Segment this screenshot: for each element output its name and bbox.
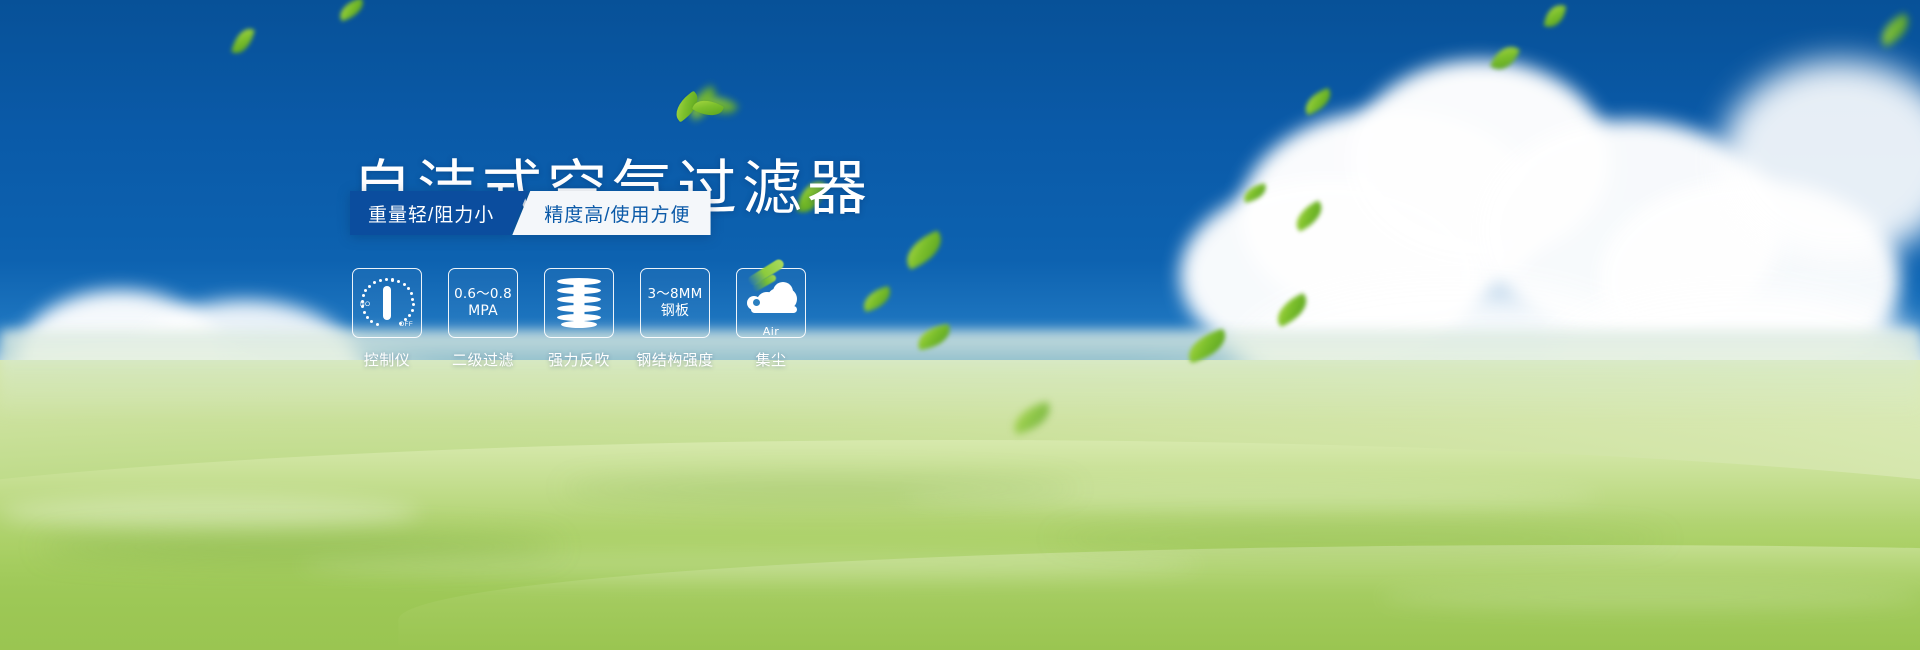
air-cloud-icon: Air <box>743 280 799 326</box>
title-leaf-decoration <box>672 88 726 122</box>
feature-item-controller[interactable]: NO OFF 控制仪 <box>352 268 422 370</box>
tagline-secondary: 精度高/使用方便 <box>512 191 710 235</box>
feature-label: 强力反吹 <box>548 349 610 370</box>
feature-item-pressure[interactable]: 0.6～0.8 MPA 二级过滤 <box>448 268 518 370</box>
tagline-primary: 重量轻/阻力小 <box>350 191 528 235</box>
banner-content: 自洁式空气过滤器 重量轻/阻力小 精度高/使用方便 <box>0 0 1920 650</box>
feature-value-line2: 钢板 <box>661 303 689 320</box>
feature-value-line1: 0.6～0.8 <box>454 286 512 302</box>
feature-list: NO OFF 控制仪 0.6～0.8 MPA 二级过滤 <box>352 268 806 370</box>
hero-banner: 自洁式空气过滤器 重量轻/阻力小 精度高/使用方便 <box>0 0 1920 650</box>
tagline-bar: 重量轻/阻力小 精度高/使用方便 <box>350 191 711 235</box>
feature-item-dust[interactable]: Air 集尘 <box>736 268 806 370</box>
feature-value-line1: 3～8MM <box>648 286 703 302</box>
feature-label: 集尘 <box>755 349 786 370</box>
feature-label: 钢结构强度 <box>636 349 714 370</box>
feature-icon-box: NO OFF <box>352 268 422 338</box>
feature-icon-box: Air <box>736 268 806 338</box>
feature-icon-box: 3～8MM 钢板 <box>640 268 710 338</box>
feature-icon-box: 0.6～0.8 MPA <box>448 268 518 338</box>
gauge-label-no: NO <box>360 301 370 308</box>
gauge-label-off: OFF <box>399 321 413 328</box>
feature-icon-box <box>544 268 614 338</box>
air-label: Air <box>743 325 799 338</box>
feature-label: 控制仪 <box>364 349 411 370</box>
filter-stack-icon <box>557 278 601 328</box>
feature-value-line2: MPA <box>468 303 498 320</box>
feature-label: 二级过滤 <box>452 349 514 370</box>
gauge-icon: NO OFF <box>359 277 415 329</box>
feature-item-backblow[interactable]: 强力反吹 <box>544 268 614 370</box>
feature-item-steel[interactable]: 3～8MM 钢板 钢结构强度 <box>640 268 710 370</box>
